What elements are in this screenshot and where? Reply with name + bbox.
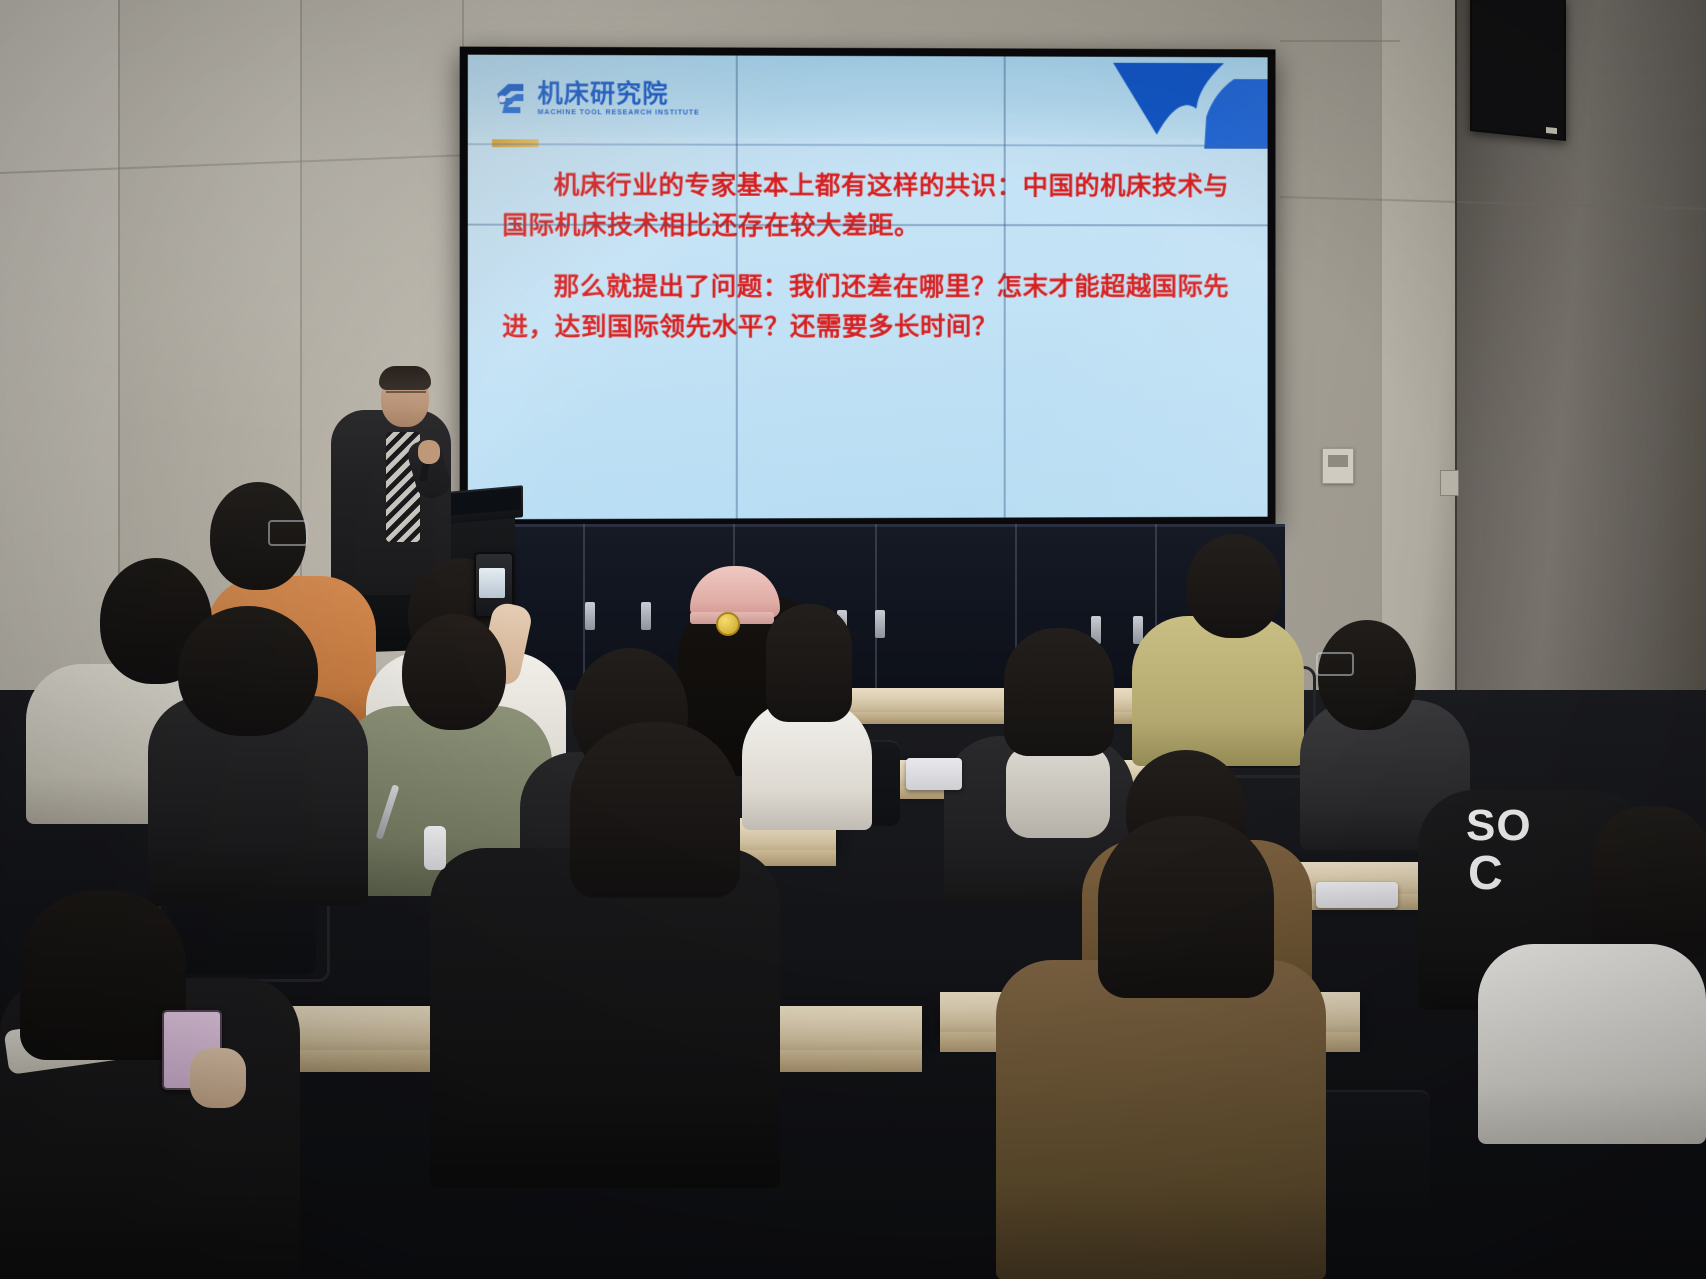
desk-edge bbox=[830, 712, 1170, 724]
attendee-bottle[interactable] bbox=[424, 826, 446, 870]
presentation-slide: 机床研究院 MACHINE TOOL RESEARCH INSTITUTE 机床… bbox=[468, 55, 1268, 520]
attendee-glasses-icon bbox=[1316, 652, 1354, 676]
attendee-head bbox=[402, 614, 506, 730]
lecture-hall-photo: 机床研究院 MACHINE TOOL RESEARCH INSTITUTE 机床… bbox=[0, 0, 1706, 1279]
attendee-head bbox=[1592, 806, 1706, 956]
cabinet-top-edge bbox=[455, 524, 1285, 527]
jacket-text-line-1: SO bbox=[1466, 806, 1532, 846]
wall-outlet-panel[interactable] bbox=[1440, 470, 1459, 496]
attendee-head bbox=[1004, 628, 1114, 756]
video-wall-display[interactable]: 机床研究院 MACHINE TOOL RESEARCH INSTITUTE 机床… bbox=[460, 47, 1276, 528]
desk-row-3 bbox=[830, 688, 1170, 714]
attendee-shoulders bbox=[1478, 944, 1706, 1144]
laptop-screen bbox=[439, 487, 521, 516]
cap-emblem-icon bbox=[716, 612, 740, 636]
attendee-head bbox=[1098, 816, 1274, 998]
slide-divider bbox=[468, 143, 1268, 147]
panel-face bbox=[1328, 455, 1348, 467]
presenter-hair bbox=[379, 366, 431, 390]
slide-content: 机床行业的专家基本上都有这样的共识：中国的机床技术与国际机床技术相比还存在较大差… bbox=[468, 165, 1268, 367]
attendee-shoulders bbox=[1132, 616, 1304, 766]
attendee-head bbox=[570, 722, 740, 898]
phone-screen bbox=[479, 568, 505, 598]
cabinet-handle[interactable] bbox=[585, 602, 595, 630]
speaker-grille bbox=[1472, 0, 1564, 139]
presenter-hand bbox=[418, 440, 440, 464]
speaker-indicator bbox=[1546, 127, 1557, 134]
panel-seam bbox=[1004, 56, 1006, 517]
logo-mark-icon bbox=[492, 81, 528, 115]
attendee-glasses-icon bbox=[268, 520, 308, 546]
logo-english-name: MACHINE TOOL RESEARCH INSTITUTE bbox=[538, 109, 700, 116]
jacket-text-line-2: C bbox=[1468, 852, 1504, 896]
wall-speaker-icon bbox=[1470, 0, 1566, 141]
blue-chevron-decoration-icon bbox=[1030, 57, 1268, 149]
attendee-scarf bbox=[1006, 746, 1110, 838]
logo-text-block: 机床研究院 MACHINE TOOL RESEARCH INSTITUTE bbox=[538, 81, 700, 117]
attendee-tablet[interactable] bbox=[906, 758, 962, 790]
institute-logo: 机床研究院 MACHINE TOOL RESEARCH INSTITUTE bbox=[492, 81, 700, 117]
slide-paragraph-1: 机床行业的专家基本上都有这样的共识：中国的机床技术与国际机床技术相比还存在较大差… bbox=[502, 165, 1234, 246]
attendee-head bbox=[766, 604, 852, 722]
attendee-shoulders bbox=[996, 960, 1326, 1279]
wall-control-panel[interactable] bbox=[1322, 448, 1354, 484]
cabinet-handle[interactable] bbox=[641, 602, 651, 630]
attendee-head bbox=[178, 606, 318, 736]
cabinet-handle[interactable] bbox=[875, 610, 885, 638]
panel-seam bbox=[736, 56, 738, 519]
attendee-tablet[interactable] bbox=[1316, 882, 1398, 908]
logo-chinese-name: 机床研究院 bbox=[538, 81, 700, 107]
attendee-hand bbox=[190, 1048, 246, 1108]
presenter-glasses-icon bbox=[386, 391, 426, 402]
attendee-shoulders bbox=[430, 848, 780, 1188]
slide-paragraph-2: 那么就提出了问题：我们还差在哪里？怎末才能超越国际先进，达到国际领先水平？还需要… bbox=[502, 266, 1234, 347]
attendee-head bbox=[1186, 534, 1282, 638]
